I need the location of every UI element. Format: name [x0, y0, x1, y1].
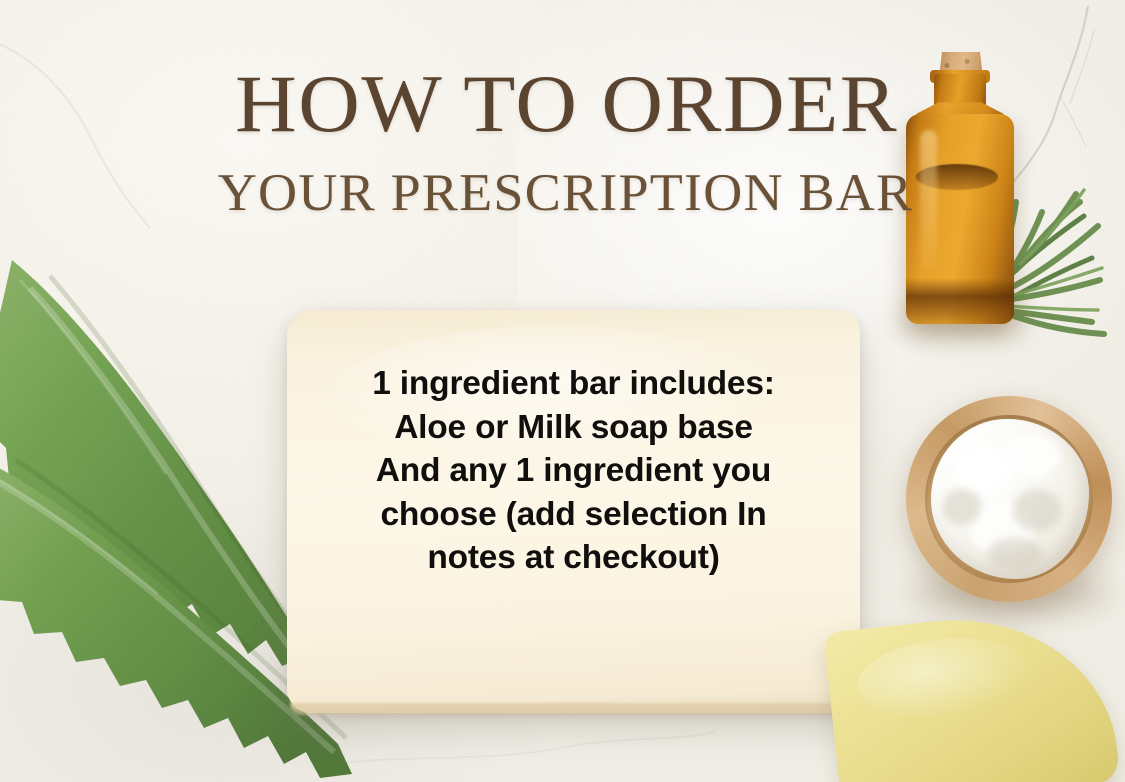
bottle-highlight — [920, 130, 937, 270]
wooden-bowl — [906, 396, 1112, 602]
shea-shade-2 — [943, 489, 981, 524]
shea-lump-2 — [1007, 435, 1061, 477]
shea-shade-1 — [1013, 489, 1061, 531]
soap-text-line-1: 1 ingredient bar includes: — [305, 362, 842, 406]
soap-text-line-2: Aloe or Milk soap base — [305, 406, 842, 450]
soap-bar: 1 ingredient bar includes: Aloe or Milk … — [287, 310, 860, 713]
shea-shade-3 — [988, 538, 1042, 570]
soap-bar-text: 1 ingredient bar includes: Aloe or Milk … — [287, 362, 860, 580]
soap-text-line-3: And any 1 ingredient you — [305, 449, 842, 493]
how-to-order-poster: HOW TO ORDER YOUR PRESCRIPTION BAR — [0, 0, 1125, 782]
soap-text-line-4: choose (add selection In — [305, 493, 842, 537]
wedge-sheen — [853, 630, 1034, 726]
soap-text-line-5: notes at checkout) — [305, 536, 842, 580]
amber-oil-bottle — [906, 52, 1028, 324]
